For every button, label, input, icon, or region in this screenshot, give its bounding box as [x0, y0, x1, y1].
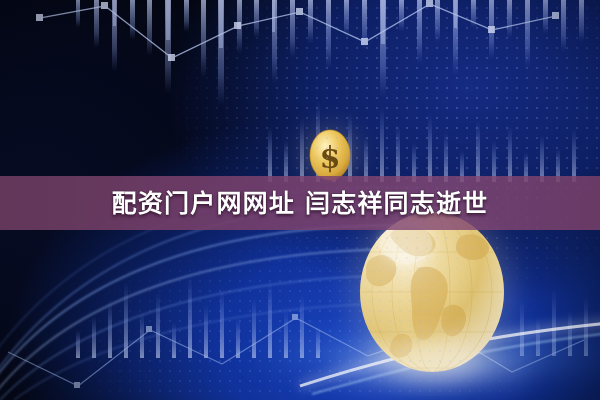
gold-dollar-coin: $ — [304, 129, 356, 181]
golden-egg-globe — [352, 204, 512, 380]
candlestick-group-mid — [268, 100, 576, 182]
dollar-symbol: $ — [320, 141, 341, 176]
glow-streak — [230, 322, 600, 394]
headline-title: 配资门户网网址 闫志祥同志逝世 — [112, 191, 489, 216]
candlestick-group-bottom — [76, 276, 320, 358]
candlestick-group-top — [76, 0, 584, 106]
trend-polyline-lower — [8, 314, 584, 388]
headline-banner: 配资门户网网址 闫志祥同志逝世 — [0, 176, 600, 230]
banner-image-canvas: $ 配资门户网网址 闫志祥同志逝世 — [0, 0, 600, 400]
trend-polyline-upper — [36, 0, 559, 61]
candlestick-group-right — [520, 288, 588, 356]
